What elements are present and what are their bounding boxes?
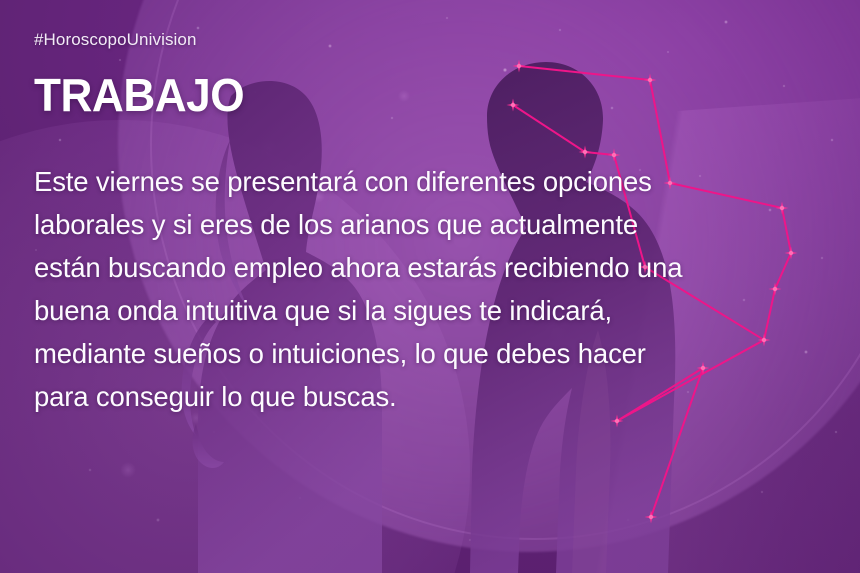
- body-line-1: Este viernes se presentará con diferente…: [34, 160, 826, 203]
- body-line-3: están buscando empleo ahora estarás reci…: [34, 246, 826, 289]
- content-block: #HoroscopoUnivision TRABAJO Este viernes…: [0, 0, 860, 418]
- body-line-4: buena onda intuitiva que si la sigues te…: [34, 289, 826, 332]
- page-title: TRABAJO: [34, 72, 794, 118]
- horoscope-card: #HoroscopoUnivision TRABAJO Este viernes…: [0, 0, 860, 573]
- body-line-2: laborales y si eres de los arianos que a…: [34, 203, 826, 246]
- horoscope-body-text: Este viernes se presentará con diferente…: [34, 160, 826, 418]
- body-line-6: para conseguir lo que buscas.: [34, 375, 826, 418]
- body-line-5: mediante sueños o intuiciones, lo que de…: [34, 332, 826, 375]
- hashtag-label: #HoroscopoUnivision: [34, 30, 826, 50]
